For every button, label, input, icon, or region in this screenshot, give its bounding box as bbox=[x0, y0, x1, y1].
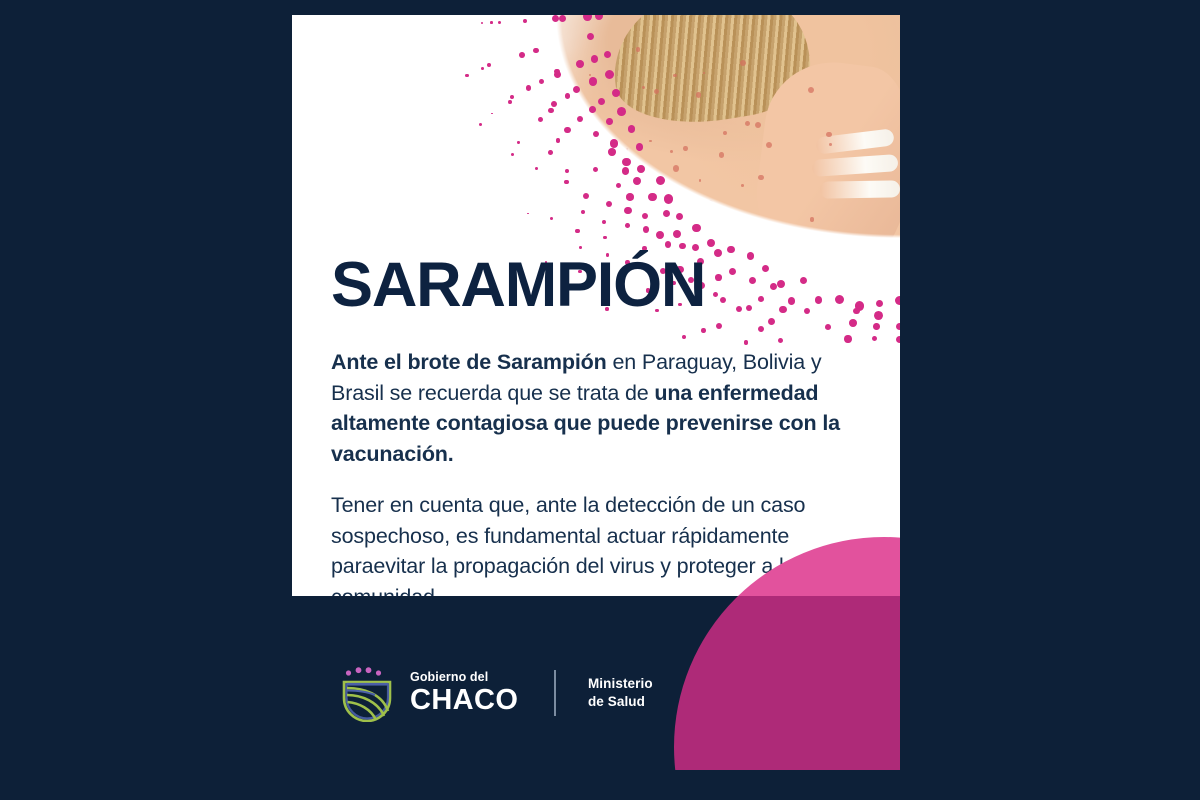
ministerio-line-2: de Salud bbox=[588, 693, 653, 711]
ministry-wordmark: Ministerio de Salud bbox=[588, 675, 653, 711]
logo-divider bbox=[554, 670, 556, 716]
footer-logo-layer: Gobierno del CHACO Ministerio de Salud bbox=[292, 596, 900, 770]
chaco-emblem-icon bbox=[338, 664, 396, 722]
gobierno-label: Gobierno del bbox=[410, 671, 518, 685]
ministerio-line-1: Ministerio bbox=[588, 675, 653, 693]
government-wordmark: Gobierno del CHACO bbox=[410, 671, 518, 715]
government-logo-lockup: Gobierno del CHACO Ministerio de Salud bbox=[338, 664, 653, 722]
health-poster: SARAMPIÓN Ante el brote de Sarampión en … bbox=[292, 15, 900, 770]
screenshot-canvas: SARAMPIÓN Ante el brote de Sarampión en … bbox=[0, 0, 1200, 800]
chaco-label: CHACO bbox=[410, 686, 518, 715]
